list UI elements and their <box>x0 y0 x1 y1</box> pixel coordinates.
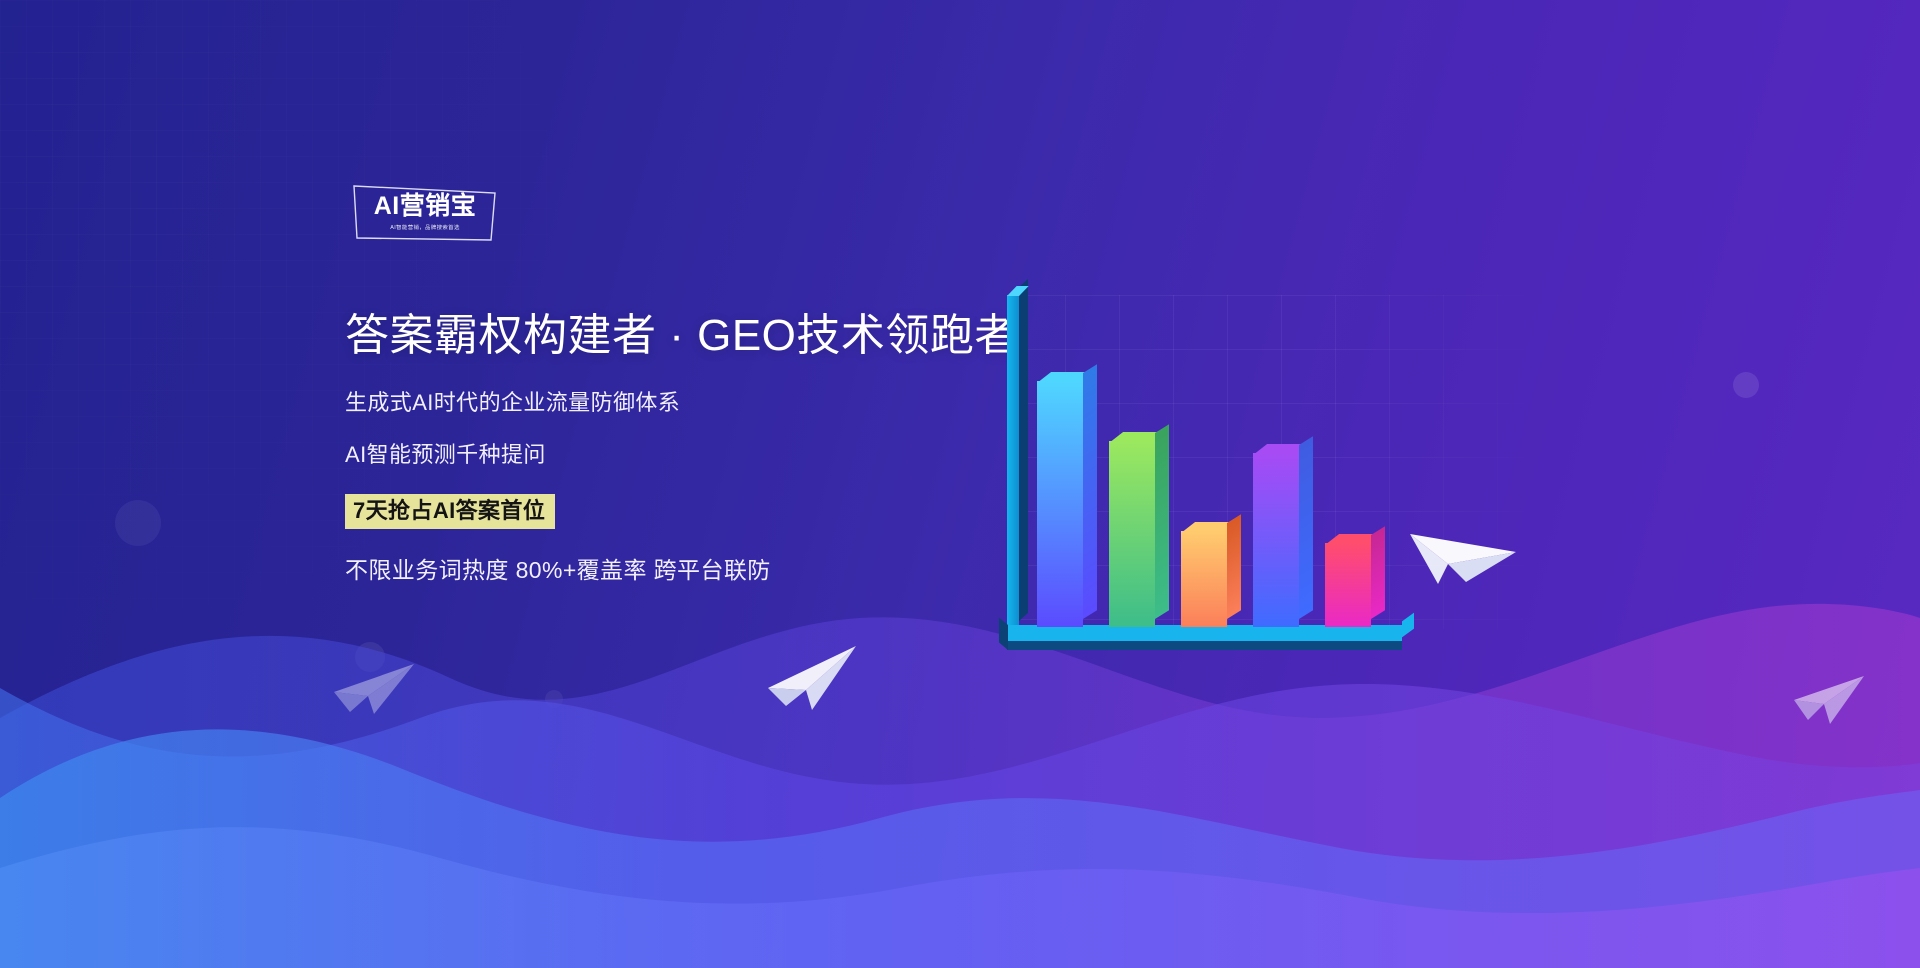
bar-chart <box>985 295 1425 665</box>
decor-circle <box>115 500 161 546</box>
chart-bar-side <box>1299 436 1313 619</box>
chart-bar-face <box>1109 441 1155 627</box>
decor-circle <box>1733 372 1759 398</box>
page-title: 答案霸权构建者 · GEO技术领跑者 <box>345 310 1065 362</box>
chart-base-top <box>1007 625 1402 641</box>
hero-highlight-row: 7天抢占AI答案首位 <box>345 494 1065 529</box>
highlight-badge: 7天抢占AI答案首位 <box>345 494 555 529</box>
chart-bar-5 <box>1325 543 1371 627</box>
hero-copy: 答案霸权构建者 · GEO技术领跑者 生成式AI时代的企业流量防御体系 AI智能… <box>345 310 1065 582</box>
paper-plane-icon <box>330 658 416 720</box>
logo-wordmark: AI营销宝 <box>364 194 486 219</box>
hero-features: 不限业务词热度 80%+覆盖率 跨平台联防 <box>345 559 1065 582</box>
wave-background <box>0 568 1920 968</box>
paper-plane-icon <box>1790 672 1868 730</box>
hero-subtitle-2: AI智能预测千种提问 <box>345 444 1065 466</box>
chart-bar-face <box>1253 453 1299 627</box>
chart-bar-side <box>1227 514 1241 619</box>
brand-logo[interactable]: AI营销宝 AI智能营销，品牌搜索首选 <box>352 182 497 244</box>
chart-base-front <box>1007 641 1402 650</box>
chart-bar-side <box>1083 364 1097 619</box>
chart-bar-face <box>1037 381 1083 627</box>
chart-y-axis-side <box>1019 279 1028 621</box>
paper-plane-icon <box>1408 512 1518 592</box>
paper-plane-icon <box>762 644 858 714</box>
chart-y-axis <box>1007 295 1019 629</box>
chart-bar-4 <box>1253 453 1299 627</box>
chart-bar-face <box>1181 531 1227 627</box>
logo-tagline: AI智能营销，品牌搜索首选 <box>365 223 485 231</box>
chart-bar-face <box>1325 543 1371 627</box>
chart-bar-2 <box>1109 441 1155 627</box>
hero-subtitle-1: 生成式AI时代的企业流量防御体系 <box>345 392 1065 414</box>
hero-banner: AI营销宝 AI智能营销，品牌搜索首选 答案霸权构建者 · GEO技术领跑者 生… <box>0 0 1920 968</box>
chart-bar-side <box>1155 424 1169 619</box>
chart-bar-3 <box>1181 531 1227 627</box>
chart-bar-side <box>1371 526 1385 619</box>
chart-bar-1 <box>1037 381 1083 627</box>
